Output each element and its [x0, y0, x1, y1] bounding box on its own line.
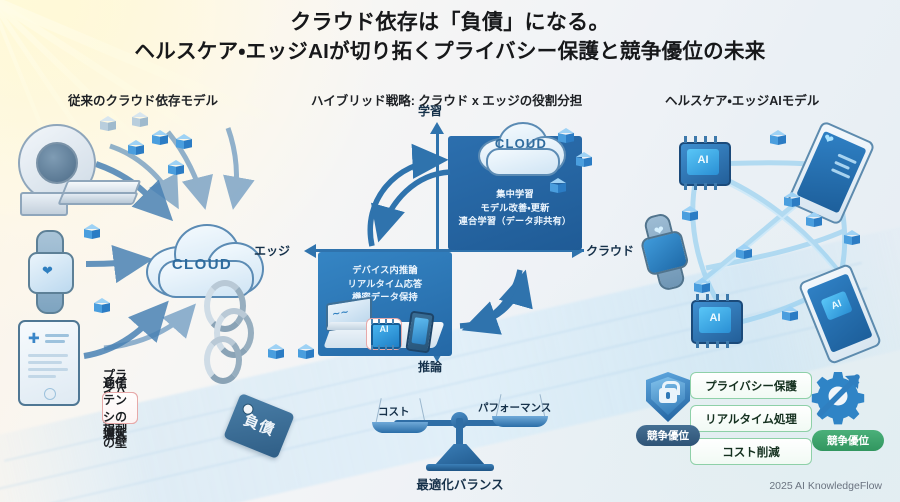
- debt-tag-label: 負債: [229, 404, 291, 445]
- data-cube: [784, 192, 800, 208]
- data-cube: [84, 224, 100, 240]
- gear-growth-arrow-icon: [812, 370, 864, 422]
- footer-credit: 2025 AI KnowledgeFlow: [769, 480, 882, 492]
- edge-ai-network-illustration: AI AI ❤: [636, 118, 900, 368]
- data-cube: [682, 206, 698, 222]
- mri-scanner-icon: [18, 124, 134, 216]
- status-badge: 競争優位: [812, 430, 884, 451]
- benefit-item: プライバシー保護: [690, 372, 812, 399]
- page-title: クラウド依存は「負債」になる。 ヘルスケア・エッジAIが切り拓くプライバシー保護…: [0, 8, 900, 66]
- benefit-item: コスト削減: [690, 438, 812, 465]
- axis-label-edge: エッジ: [254, 242, 290, 259]
- data-cube: [128, 140, 144, 156]
- column-header-edge-ai: ヘルスケア・エッジAIモデル: [665, 90, 819, 109]
- privacy-advantage-badge-group: 競争優位: [636, 372, 700, 446]
- data-cube: [152, 130, 168, 146]
- data-cube: [736, 244, 752, 260]
- title-line-1: クラウド依存は「負債」になる。: [0, 8, 900, 37]
- column-header-traditional: 従来のクラウド依存モデル: [68, 90, 218, 109]
- growth-advantage-badge-group: 競争優位: [812, 370, 884, 451]
- data-cube: [844, 230, 860, 246]
- data-cube: [558, 128, 574, 144]
- data-cube: [132, 112, 148, 128]
- data-cube: [782, 306, 798, 322]
- data-cube: [94, 298, 110, 314]
- ai-chip-icon: AI: [672, 136, 734, 190]
- benefit-item: リアルタイム処理: [690, 405, 812, 432]
- column-header-hybrid: ハイブリッド戦略: クラウド x エッジの役割分担: [311, 90, 582, 109]
- shield-lock-icon: [646, 372, 690, 422]
- scale-caption: 最適化バランス: [372, 474, 548, 493]
- ai-chip-icon: AI: [684, 294, 746, 348]
- data-cube: [268, 344, 284, 360]
- infographic-canvas: クラウド依存は「負債」になる。 ヘルスケア・エッジAIが切り拓くプライバシー保護…: [0, 0, 900, 502]
- data-cube: [770, 130, 786, 146]
- status-badge: 競争優位: [636, 425, 700, 446]
- data-cube: [576, 152, 592, 168]
- data-cube: [176, 134, 192, 150]
- data-cube: [100, 116, 116, 132]
- data-cube: [806, 212, 822, 228]
- edge-benefits-list: プライバシー保護 リアルタイム処理 コスト削減: [690, 372, 812, 471]
- data-cube: [168, 160, 184, 176]
- data-cube: [550, 178, 566, 194]
- scale-label-performance: パフォーマンス: [478, 400, 551, 415]
- chain-icon: [198, 280, 268, 390]
- quadrant-exchange-arrows: [300, 118, 600, 368]
- data-cube: [298, 344, 314, 360]
- smartwatch-icon: ❤: [20, 230, 82, 310]
- scale-pan-cost: [372, 422, 428, 433]
- tablet-chart-icon: ✚: [18, 320, 80, 406]
- scale-label-cost: コスト: [378, 404, 410, 419]
- title-line-2: ヘルスケア・エッジAIが切り拓くプライバシー保護と競争優位の未来: [0, 37, 900, 66]
- data-cube: [694, 278, 710, 294]
- issue-item: レイテンシの遅延: [102, 392, 138, 424]
- scale-pan-performance: [492, 416, 548, 427]
- cloud-label: CLOUD: [140, 256, 264, 273]
- hybrid-quadrant-diagram: 学習 推論 エッジ クラウド CLOUD 集中学習 モデル改善・更新 連合学習（…: [300, 118, 600, 368]
- optimization-balance-scale: コスト パフォーマンス 最適化バランス: [372, 392, 548, 492]
